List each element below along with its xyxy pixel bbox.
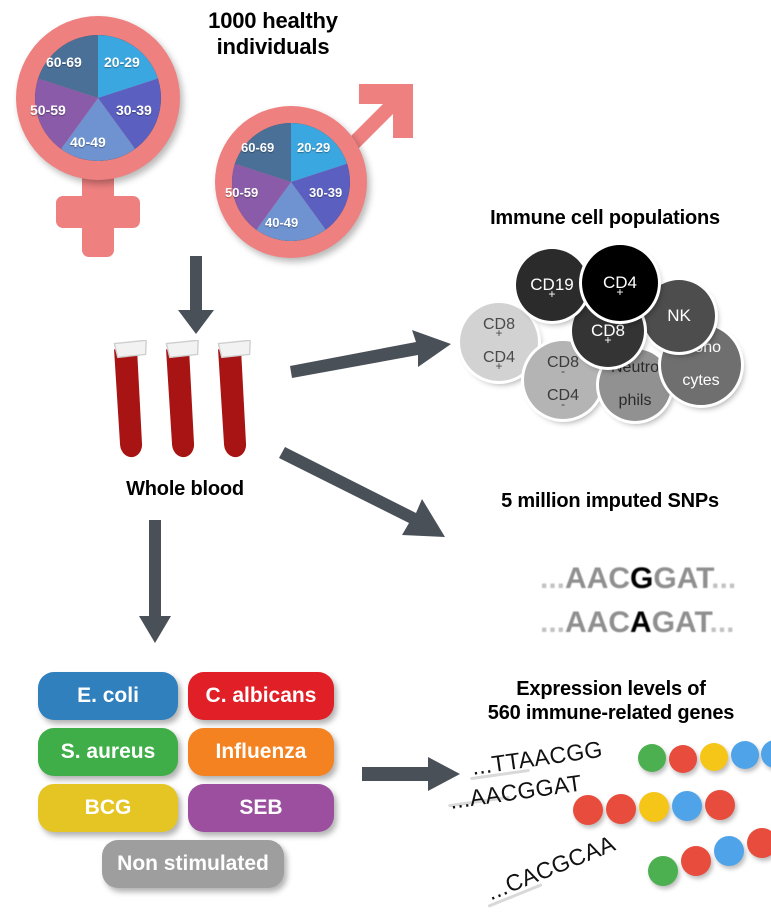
expression-bead	[705, 790, 735, 820]
stimulation-label: SEB	[239, 796, 282, 820]
female-gender-symbol: 20-29 30-39 40-49 50-59 60-69	[8, 12, 188, 257]
snp-sequences: ...AACGGAT... ...AACAGAT...	[490, 528, 740, 614]
expression-strand-3: ...CACGCAA	[480, 832, 771, 912]
immune-cell-cd19pos: CD19+	[516, 249, 588, 321]
cohort-title: 1000 healthy individuals	[178, 8, 368, 60]
snp-prefix: ...	[540, 606, 565, 639]
expression-bead	[700, 743, 728, 771]
whole-blood-tubes	[95, 340, 275, 465]
male-pie-svg	[232, 123, 350, 241]
stimulation-box-influenza[interactable]: Influenza	[188, 728, 334, 776]
arrow-blood-to-immune	[288, 330, 453, 380]
stimulation-box-non-stimulated[interactable]: Non stimulated	[102, 840, 284, 888]
stimulation-box-c-albicans[interactable]: C. albicans	[188, 672, 334, 720]
expression-bead	[747, 828, 771, 858]
female-age-pie-chart	[35, 35, 161, 161]
stimulation-label: Influenza	[215, 740, 306, 764]
cohort-title-line1: 1000 healthy	[178, 8, 368, 34]
stimulation-panel: E. coli C. albicans S. aureus Influenza …	[38, 672, 338, 897]
cohort-title-line2: individuals	[178, 34, 368, 60]
arrow-blood-to-snps	[285, 445, 460, 545]
immune-cell-cluster: CD8+ CD4+ CD8- CD4- Neutro phils Mono cy…	[460, 245, 760, 425]
stimulation-label: BCG	[85, 796, 132, 820]
stimulation-box-bcg[interactable]: BCG	[38, 784, 178, 832]
expression-title-line1: Expression levels of	[455, 678, 767, 702]
female-symbol-crossbar	[56, 196, 140, 228]
snp-right: GAT	[652, 606, 710, 639]
strand-sequence-text: ...TTAACGG	[470, 736, 604, 781]
expression-bead	[638, 744, 666, 772]
blood-tube-3	[214, 340, 252, 458]
cell-label-line2: phils	[611, 393, 659, 410]
whole-blood-label: Whole blood	[85, 478, 285, 502]
stimulation-label: S. aureus	[61, 740, 156, 764]
immune-cell-cd4pos: CD4+	[582, 245, 658, 321]
expression-bead	[669, 745, 697, 773]
female-pie-svg	[35, 35, 161, 161]
stimulation-box-seb[interactable]: SEB	[188, 784, 334, 832]
stimulation-label: E. coli	[77, 684, 139, 708]
expression-bead	[731, 741, 759, 769]
blood-tube-1	[110, 340, 148, 458]
expression-bead	[761, 740, 771, 768]
expression-bead	[639, 792, 669, 822]
snp-sequence-row: ...AACAGAT...	[490, 572, 735, 674]
snp-left: AAC	[565, 606, 630, 639]
arrow-cohort-to-blood	[176, 256, 216, 336]
stimulation-label: C. albicans	[206, 684, 317, 708]
male-gender-symbol: 20-29 30-39 40-49 50-59 60-69	[205, 78, 420, 258]
stimulation-box-e-coli[interactable]: E. coli	[38, 672, 178, 720]
expression-bead	[573, 795, 603, 825]
blood-tube-2	[162, 340, 200, 458]
snp-variant-base: A	[630, 606, 652, 639]
expression-bead	[672, 791, 702, 821]
expression-title-line2: 560 immune-related genes	[455, 702, 767, 726]
snp-suffix: ...	[709, 606, 734, 639]
stimulation-box-s-aureus[interactable]: S. aureus	[38, 728, 178, 776]
expression-strand-2: ...AACGGAT	[436, 778, 771, 838]
immune-cell-populations-title: Immune cell populations	[450, 207, 760, 231]
expression-bead	[648, 856, 678, 886]
expression-strands: ...TTAACGG ...AACGGAT ...CACGCAA	[452, 740, 771, 915]
expression-bead	[606, 794, 636, 824]
male-age-pie-chart	[232, 123, 350, 241]
cell-label-line2: cytes	[681, 373, 721, 390]
stimulation-label: Non stimulated	[117, 852, 269, 876]
expression-title: Expression levels of 560 immune-related …	[455, 678, 767, 725]
strand-sequence-text: ...CACGCAA	[483, 830, 619, 906]
cell-label-line1: NK	[667, 307, 691, 325]
blood-tubes-svg	[95, 340, 275, 465]
snps-title: 5 million imputed SNPs	[460, 490, 760, 514]
arrow-blood-to-stimulation	[137, 520, 173, 645]
expression-bead	[681, 846, 711, 876]
figure-canvas: 1000 healthy individuals 20-29 30-39 40-…	[0, 0, 771, 922]
expression-bead	[714, 836, 744, 866]
